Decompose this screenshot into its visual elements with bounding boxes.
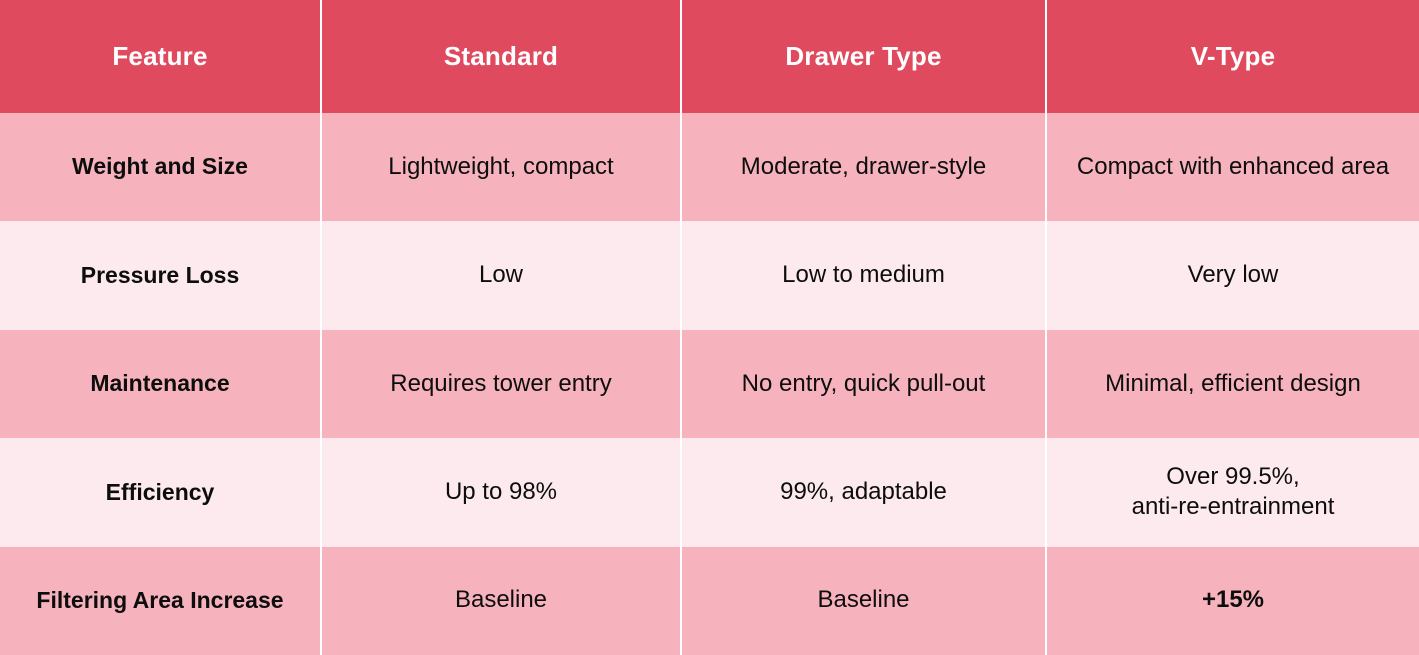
cell-drawer-pressure-loss: Low to medium	[681, 221, 1046, 329]
cell-drawer-weight-and-size: Moderate, drawer-style	[681, 113, 1046, 221]
cell-drawer-maintenance: No entry, quick pull-out	[681, 330, 1046, 438]
table-row: Pressure Loss Low Low to medium Very low	[0, 221, 1419, 329]
cell-standard-filtering-area-increase: Baseline	[321, 547, 681, 655]
row-label-maintenance: Maintenance	[0, 330, 321, 438]
row-label-weight-and-size: Weight and Size	[0, 113, 321, 221]
table-row: Filtering Area Increase Baseline Baselin…	[0, 547, 1419, 655]
cell-vtype-maintenance: Minimal, efficient design	[1046, 330, 1419, 438]
table-header: Feature Standard Drawer Type V-Type	[0, 0, 1419, 113]
cell-vtype-pressure-loss: Very low	[1046, 221, 1419, 329]
table-row: Efficiency Up to 98% 99%, adaptable Over…	[0, 438, 1419, 546]
cell-standard-weight-and-size: Lightweight, compact	[321, 113, 681, 221]
comparison-table: Feature Standard Drawer Type V-Type Weig…	[0, 0, 1419, 655]
cell-vtype-weight-and-size: Compact with enhanced area	[1046, 113, 1419, 221]
header-row: Feature Standard Drawer Type V-Type	[0, 0, 1419, 113]
row-label-efficiency: Efficiency	[0, 438, 321, 546]
row-label-filtering-area-increase: Filtering Area Increase	[0, 547, 321, 655]
row-label-pressure-loss: Pressure Loss	[0, 221, 321, 329]
column-header-vtype: V-Type	[1046, 0, 1419, 113]
cell-vtype-filtering-area-increase: +15%	[1046, 547, 1419, 655]
cell-drawer-efficiency: 99%, adaptable	[681, 438, 1046, 546]
table-row: Maintenance Requires tower entry No entr…	[0, 330, 1419, 438]
cell-vtype-efficiency: Over 99.5%, anti-re-entrainment	[1046, 438, 1419, 546]
column-header-drawer: Drawer Type	[681, 0, 1046, 113]
column-header-standard: Standard	[321, 0, 681, 113]
column-header-feature: Feature	[0, 0, 321, 113]
table-row: Weight and Size Lightweight, compact Mod…	[0, 113, 1419, 221]
cell-drawer-filtering-area-increase: Baseline	[681, 547, 1046, 655]
cell-standard-pressure-loss: Low	[321, 221, 681, 329]
table-body: Weight and Size Lightweight, compact Mod…	[0, 113, 1419, 655]
cell-standard-maintenance: Requires tower entry	[321, 330, 681, 438]
cell-vtype-efficiency-line-1: Over 99.5%,	[1051, 462, 1415, 493]
cell-vtype-efficiency-line-2: anti-re-entrainment	[1051, 492, 1415, 523]
cell-standard-efficiency: Up to 98%	[321, 438, 681, 546]
